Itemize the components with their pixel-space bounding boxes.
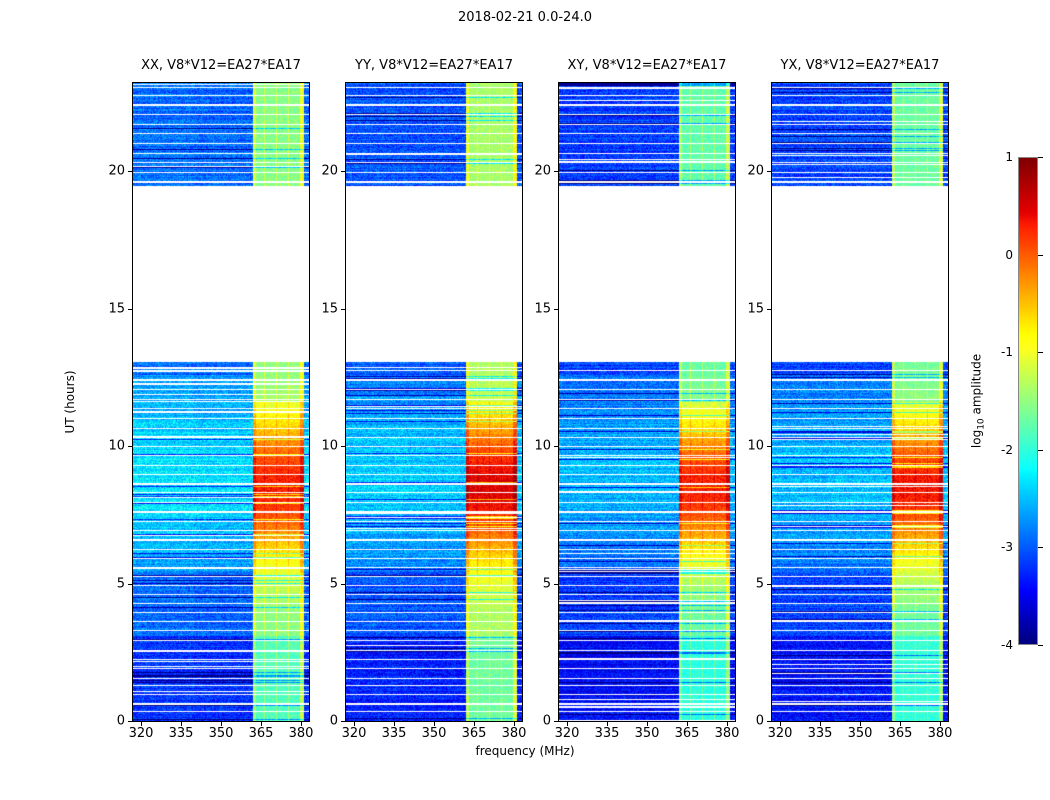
y-tick [128, 721, 132, 722]
y-tick-label: 15 [92, 301, 125, 316]
y-tick [554, 309, 558, 310]
y-tick [341, 309, 345, 310]
spectrogram-panel-xy[interactable] [558, 82, 736, 722]
y-tick-label: 5 [731, 576, 764, 591]
colorbar[interactable] [1018, 157, 1038, 645]
y-tick [128, 446, 132, 447]
y-tick-label: 20 [731, 164, 764, 179]
y-tick [341, 446, 345, 447]
y-tick [128, 309, 132, 310]
colorbar-tick [1038, 645, 1043, 646]
y-tick [554, 446, 558, 447]
y-tick-label: 20 [92, 164, 125, 179]
panel-title-yx: YX, V8*V12=EA27*EA17 [771, 58, 949, 76]
colorbar-tick [1038, 255, 1043, 256]
y-tick [341, 721, 345, 722]
spectrogram-panel-yx[interactable] [771, 82, 949, 722]
y-tick-label: 5 [518, 576, 551, 591]
colorbar-tick [1038, 547, 1043, 548]
y-tick-label: 15 [731, 301, 764, 316]
colorbar-tick [1038, 450, 1043, 451]
colorbar-label-tail: amplitude [969, 354, 983, 418]
panel-title-xy: XY, V8*V12=EA27*EA17 [558, 58, 736, 76]
colorbar-tick [1038, 352, 1043, 353]
x-tick-label: 380 [928, 726, 953, 741]
y-tick-label: 0 [731, 714, 764, 729]
colorbar-tick-label: -4 [985, 638, 1013, 652]
colorbar-label-sub: 10 [977, 418, 987, 429]
y-tick [767, 171, 771, 172]
y-tick-label: 5 [92, 576, 125, 591]
y-tick [767, 721, 771, 722]
y-tick-label: 15 [305, 301, 338, 316]
spectrogram-panel-xx[interactable] [132, 82, 310, 722]
colorbar-tick-label: 1 [985, 150, 1013, 164]
panel-title-yy: YY, V8*V12=EA27*EA17 [345, 58, 523, 76]
y-tick-label: 15 [518, 301, 551, 316]
colorbar-label: log10 amplitude [969, 354, 986, 448]
y-tick [341, 171, 345, 172]
y-tick-label: 10 [305, 439, 338, 454]
y-tick [554, 171, 558, 172]
y-tick-label: 10 [731, 439, 764, 454]
y-tick [767, 309, 771, 310]
y-axis-label: UT (hours) [63, 370, 77, 433]
colorbar-tick [1038, 157, 1043, 158]
colorbar-label-main: log [969, 430, 983, 448]
y-tick-label: 10 [92, 439, 125, 454]
y-tick [128, 584, 132, 585]
y-tick [554, 721, 558, 722]
y-tick-label: 20 [305, 164, 338, 179]
y-tick-label: 5 [305, 576, 338, 591]
y-tick [767, 584, 771, 585]
panel-title-xx: XX, V8*V12=EA27*EA17 [132, 58, 310, 76]
figure-title: 2018-02-21 0.0-24.0 [0, 10, 1050, 25]
y-tick [554, 584, 558, 585]
colorbar-tick-label: -3 [985, 540, 1013, 554]
colorbar-tick-label: 0 [985, 248, 1013, 262]
spectrogram-panel-yy[interactable] [345, 82, 523, 722]
y-tick-label: 20 [518, 164, 551, 179]
y-tick [767, 446, 771, 447]
y-tick [341, 584, 345, 585]
colorbar-tick-label: -2 [985, 443, 1013, 457]
y-tick [128, 171, 132, 172]
colorbar-tick-label: -1 [985, 345, 1013, 359]
y-tick-label: 10 [518, 439, 551, 454]
figure-canvas: 2018-02-21 0.0-24.0 XX, V8*V12=EA27*EA17… [0, 0, 1050, 800]
x-axis-label: frequency (MHz) [0, 744, 1050, 758]
